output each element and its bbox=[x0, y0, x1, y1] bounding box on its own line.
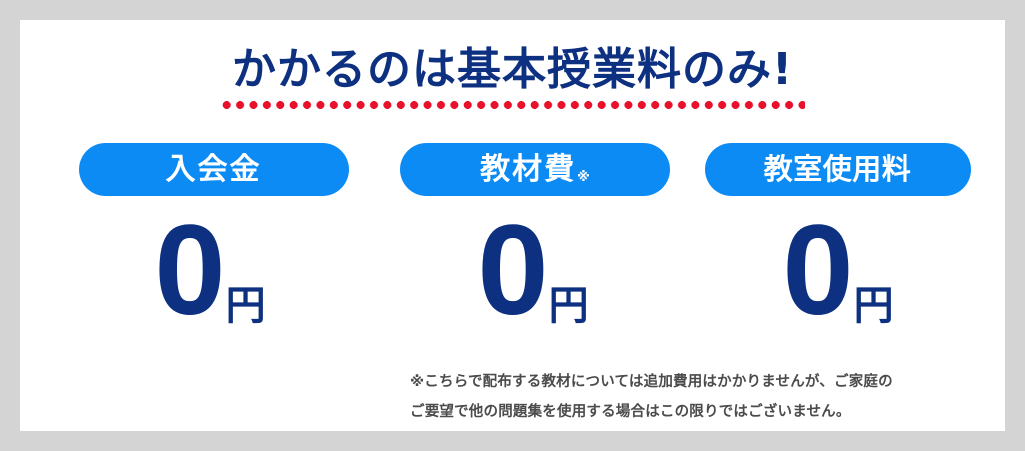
footnote-line-1: ※こちらで配布する教材については追加費用はかかりませんが、ご家庭の bbox=[410, 368, 990, 398]
footnote: ※こちらで配布する教材については追加費用はかかりませんが、ご家庭の ご要望で他の… bbox=[410, 368, 990, 427]
page-title: かかるのは基本授業料のみ! bbox=[226, 44, 799, 96]
fee-price-enrollment: 0 円 bbox=[59, 217, 369, 326]
fee-badge-label: 教材費 bbox=[480, 155, 576, 185]
price-number: 0 bbox=[782, 217, 851, 326]
fee-column-materials: 教材費 ※ 0 円 bbox=[380, 143, 690, 363]
fee-badge-label: 入会金 bbox=[166, 155, 262, 185]
price-unit: 円 bbox=[226, 289, 266, 326]
fee-column-classroom: 教室使用料 0 円 bbox=[693, 143, 983, 363]
fee-badge-enrollment: 入会金 bbox=[79, 143, 349, 196]
headline-text: かかるのは基本授業料のみ! bbox=[232, 44, 793, 95]
price-unit: 円 bbox=[854, 289, 894, 326]
fee-price-materials: 0 円 bbox=[380, 217, 690, 326]
fee-badge-label: 教室使用料 bbox=[764, 155, 912, 184]
red-dotted-underline bbox=[220, 101, 805, 109]
pricing-card: かかるのは基本授業料のみ! 入会金 0 円 教材費 ※ bbox=[20, 20, 1005, 431]
outer-frame: かかるのは基本授業料のみ! 入会金 0 円 教材費 ※ bbox=[0, 0, 1025, 451]
footnote-line-2: ご要望で他の問題集を使用する場合はこの限りではございません。 bbox=[410, 398, 990, 428]
price-number: 0 bbox=[477, 217, 546, 326]
price-unit: 円 bbox=[549, 289, 589, 326]
fee-columns: 入会金 0 円 教材費 ※ 0 円 bbox=[20, 143, 1005, 363]
fee-badge-classroom: 教室使用料 bbox=[705, 143, 971, 196]
price-number: 0 bbox=[154, 217, 223, 326]
fee-badge-materials: 教材費 ※ bbox=[400, 143, 670, 196]
fee-price-classroom: 0 円 bbox=[693, 217, 983, 326]
fee-badge-note: ※ bbox=[577, 170, 590, 196]
headline-container: かかるのは基本授業料のみ! bbox=[20, 44, 1005, 96]
fee-column-enrollment: 入会金 0 円 bbox=[59, 143, 369, 363]
